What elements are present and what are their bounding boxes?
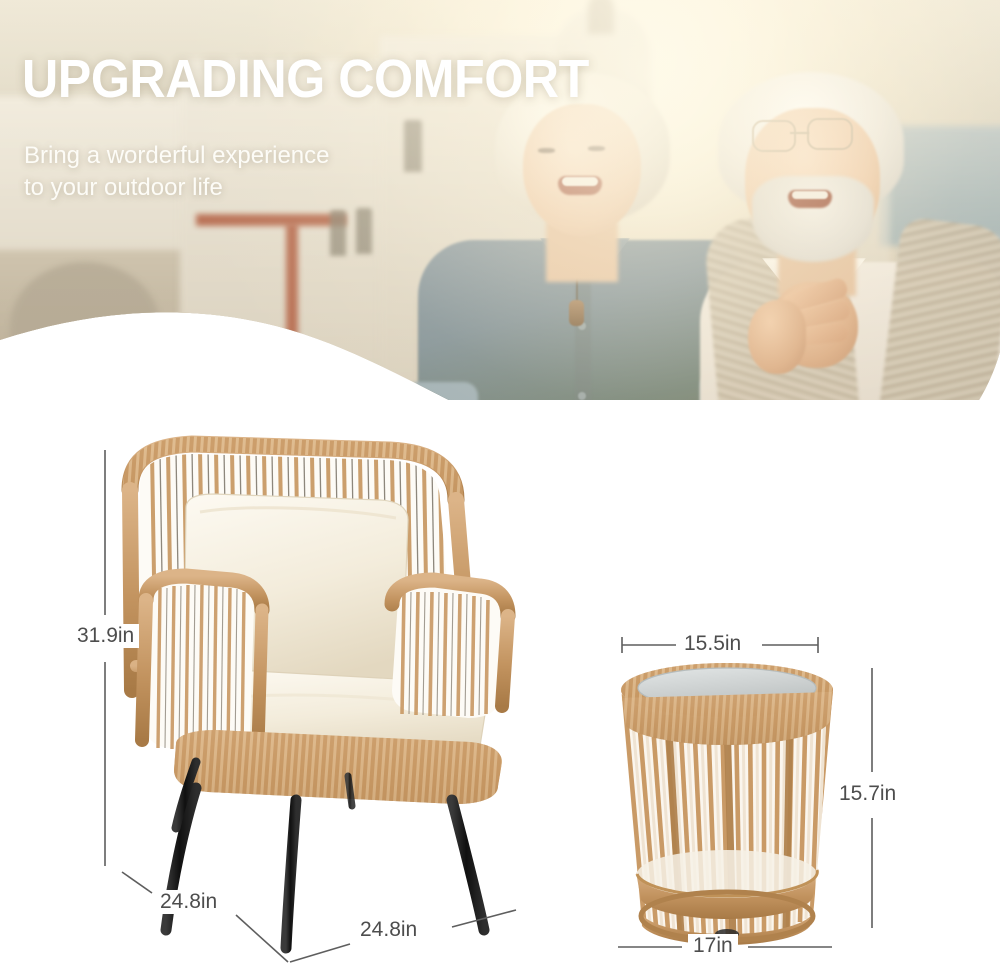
product-marketing-image: UPGRADING COMFORT Bring a worderful expe…: [0, 0, 1000, 971]
side-table-body: [621, 663, 833, 945]
table-diameter-label: 15.5in: [679, 632, 746, 656]
chair-leg-front-right: [452, 800, 484, 930]
chair-depth-line-b: [236, 915, 288, 962]
chair-width-label: 24.8in: [355, 918, 422, 942]
chair-body: [126, 444, 508, 948]
chair-depth-line-a: [122, 872, 152, 893]
table-base-width-label: 17in: [688, 934, 738, 958]
table-height-label: 15.7in: [834, 782, 901, 806]
chair-illustration: [0, 0, 1000, 971]
chair-width-line-a: [290, 944, 350, 962]
chair-height-label: 31.9in: [72, 624, 139, 648]
chair-leg-front-center: [286, 800, 296, 948]
chair-depth-label: 24.8in: [155, 890, 222, 914]
